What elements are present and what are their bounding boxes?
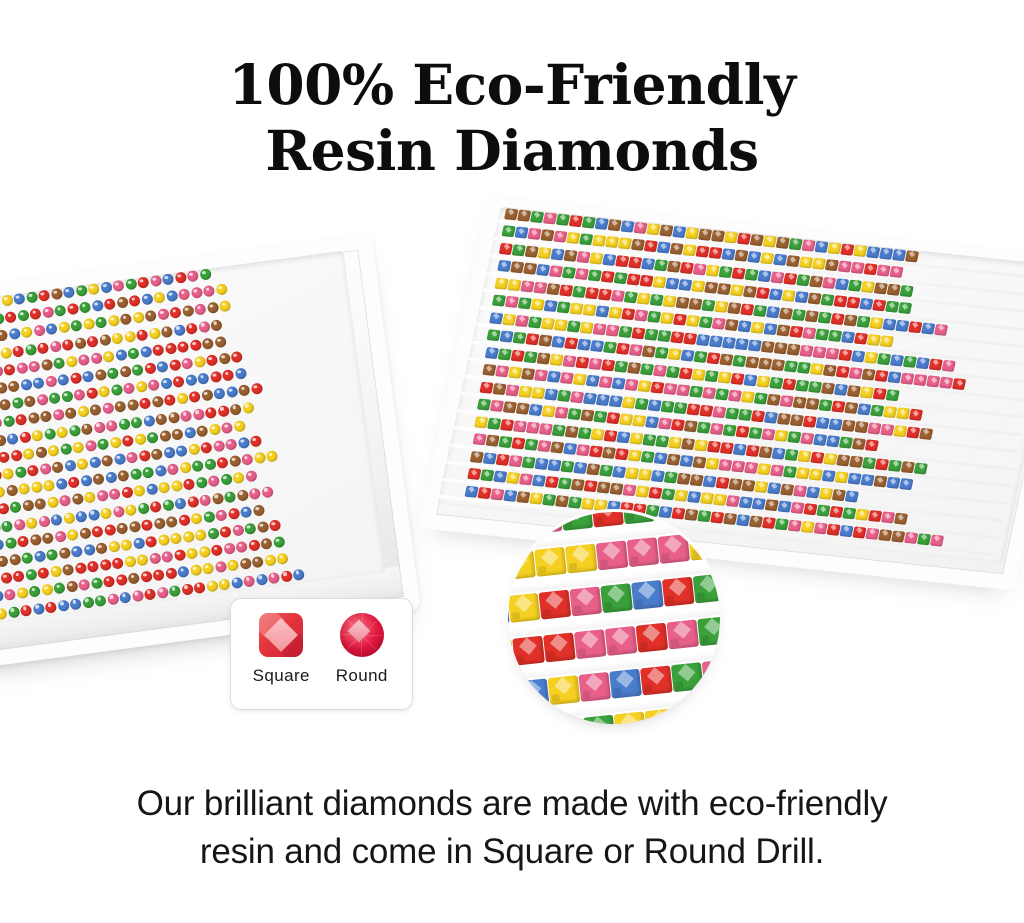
- resin-bead: [762, 516, 776, 528]
- resin-bead: [734, 250, 748, 262]
- resin-bead: [1, 294, 13, 306]
- resin-bead: [722, 336, 736, 348]
- resin-bead: [46, 323, 58, 335]
- magnified-gem: [539, 589, 572, 619]
- resin-bead: [206, 580, 218, 592]
- resin-bead: [799, 256, 813, 268]
- resin-bead: [528, 316, 542, 328]
- resin-bead: [586, 463, 600, 475]
- magnified-gem: [508, 512, 531, 537]
- resin-bead: [709, 335, 723, 347]
- resin-bead: [523, 351, 537, 363]
- resin-bead: [593, 323, 607, 335]
- resin-bead: [211, 319, 223, 331]
- resin-bead: [242, 401, 254, 413]
- resin-bead: [500, 331, 514, 343]
- resin-bead: [117, 470, 129, 482]
- resin-bead: [103, 576, 115, 588]
- resin-bead: [67, 303, 79, 315]
- resin-bead: [0, 365, 4, 377]
- resin-bead: [0, 330, 8, 342]
- resin-bead: [777, 500, 791, 512]
- resin-bead: [868, 510, 882, 522]
- resin-bead: [766, 394, 780, 406]
- resin-bead: [173, 324, 185, 336]
- resin-bead: [64, 460, 76, 472]
- resin-bead: [207, 302, 219, 314]
- resin-bead: [213, 440, 225, 452]
- resin-bead: [96, 490, 108, 502]
- resin-bead: [755, 287, 769, 299]
- resin-bead: [91, 577, 103, 589]
- resin-bead: [721, 248, 735, 260]
- resin-bead: [873, 475, 887, 487]
- resin-bead: [29, 308, 41, 320]
- resin-bead: [14, 466, 26, 478]
- resin-bead: [40, 411, 52, 423]
- resin-bead: [134, 433, 146, 445]
- resin-bead: [647, 311, 661, 323]
- resin-bead: [174, 549, 186, 561]
- resin-bead: [50, 288, 62, 300]
- resin-bead: [782, 378, 796, 390]
- resin-bead: [516, 403, 530, 415]
- resin-bead: [842, 419, 856, 431]
- resin-bead: [124, 556, 136, 568]
- resin-bead: [222, 369, 234, 381]
- resin-bead: [892, 249, 906, 261]
- magnified-gem: [508, 592, 540, 622]
- resin-bead: [521, 456, 535, 468]
- resin-bead: [635, 398, 649, 410]
- resin-bead: [533, 281, 547, 293]
- resin-bead: [891, 530, 905, 542]
- resin-bead: [829, 506, 843, 518]
- resin-bead: [47, 497, 59, 509]
- resin-bead: [50, 566, 62, 578]
- resin-bead: [930, 534, 944, 546]
- resin-bead: [888, 459, 902, 471]
- resin-bead: [883, 406, 897, 418]
- resin-bead: [869, 317, 883, 329]
- resin-bead: [226, 386, 238, 398]
- resin-bead: [952, 378, 966, 390]
- resin-bead: [696, 246, 710, 258]
- resin-bead: [485, 435, 499, 447]
- resin-bead: [20, 604, 32, 616]
- resin-bead: [634, 309, 648, 321]
- resin-bead: [219, 300, 231, 312]
- resin-bead: [159, 430, 171, 442]
- resin-bead: [149, 327, 161, 339]
- resin-bead: [732, 267, 746, 279]
- resin-bead: [704, 282, 718, 294]
- resin-bead: [743, 374, 757, 386]
- magnified-gem: [640, 665, 673, 695]
- resin-bead: [52, 409, 64, 421]
- resin-bead: [741, 479, 755, 491]
- resin-bead: [72, 441, 84, 453]
- resin-bead: [190, 287, 202, 299]
- resin-bead: [33, 325, 45, 337]
- magnified-gem: [653, 512, 686, 521]
- drill-type-legend: Square Round: [230, 598, 413, 710]
- square-bead-grid: [437, 207, 1024, 563]
- resin-bead: [670, 243, 684, 255]
- resin-bead: [847, 473, 861, 485]
- resin-bead: [741, 391, 755, 403]
- resin-bead: [82, 370, 94, 382]
- resin-bead: [9, 554, 21, 566]
- resin-bead: [916, 357, 930, 369]
- resin-bead: [608, 307, 622, 319]
- resin-bead: [797, 362, 811, 374]
- resin-bead: [849, 367, 863, 379]
- resin-bead: [152, 344, 164, 356]
- resin-bead: [603, 253, 617, 265]
- resin-bead: [664, 471, 678, 483]
- resin-bead: [88, 508, 100, 520]
- resin-bead: [756, 375, 770, 387]
- resin-bead: [856, 315, 870, 327]
- resin-bead: [538, 247, 552, 259]
- resin-bead: [250, 435, 262, 447]
- resin-bead: [544, 388, 558, 400]
- resin-bead: [752, 498, 766, 510]
- resin-bead: [119, 591, 131, 603]
- resin-bead: [93, 421, 105, 433]
- resin-bead: [28, 412, 40, 424]
- resin-bead: [619, 325, 633, 337]
- resin-bead: [505, 384, 519, 396]
- resin-bead: [22, 500, 34, 512]
- resin-bead: [236, 541, 248, 553]
- resin-bead: [761, 340, 775, 352]
- resin-bead: [526, 333, 540, 345]
- resin-bead: [645, 328, 659, 340]
- resin-bead: [828, 330, 842, 342]
- resin-bead: [552, 424, 566, 436]
- resin-bead: [189, 391, 201, 403]
- resin-bead: [161, 325, 173, 337]
- resin-bead: [4, 589, 16, 601]
- resin-bead: [179, 462, 191, 474]
- resin-bead: [0, 607, 8, 619]
- resin-bead: [216, 457, 228, 469]
- resin-bead: [169, 585, 181, 597]
- resin-bead: [153, 292, 165, 304]
- resin-bead: [650, 382, 664, 394]
- resin-bead: [73, 389, 85, 401]
- resin-bead: [54, 305, 66, 317]
- resin-bead: [149, 552, 161, 564]
- resin-bead: [172, 376, 184, 388]
- resin-bead: [635, 486, 649, 498]
- resin-bead: [710, 423, 724, 435]
- resin-bead: [617, 431, 631, 443]
- resin-bead: [45, 375, 57, 387]
- resin-bead: [63, 512, 75, 524]
- resin-bead: [810, 275, 824, 287]
- resin-bead: [850, 455, 864, 467]
- resin-bead: [99, 334, 111, 346]
- resin-bead: [603, 341, 617, 353]
- resin-bead: [759, 446, 773, 458]
- resin-bead: [97, 438, 109, 450]
- resin-bead: [160, 378, 172, 390]
- resin-bead: [103, 350, 115, 362]
- resin-bead: [55, 478, 67, 490]
- resin-bead: [765, 499, 779, 511]
- resin-bead: [885, 389, 899, 401]
- legend-item-round[interactable]: Round: [322, 613, 402, 686]
- resin-bead: [639, 275, 653, 287]
- resin-bead: [127, 399, 139, 411]
- resin-bead: [231, 576, 243, 588]
- resin-bead: [531, 299, 545, 311]
- resin-bead: [786, 255, 800, 267]
- resin-bead: [60, 443, 72, 455]
- resin-bead: [694, 351, 708, 363]
- resin-bead: [853, 526, 867, 538]
- resin-bead: [917, 533, 931, 545]
- resin-bead: [0, 591, 4, 603]
- resin-bead: [651, 470, 665, 482]
- resin-bead: [45, 601, 57, 613]
- resin-bead: [141, 293, 153, 305]
- resin-bead: [702, 475, 716, 487]
- resin-bead: [698, 228, 712, 240]
- resin-bead: [888, 371, 902, 383]
- resin-bead: [903, 355, 917, 367]
- resin-bead: [655, 347, 669, 359]
- resin-bead: [622, 484, 636, 496]
- magnified-gem: [706, 701, 720, 724]
- resin-bead: [498, 436, 512, 448]
- resin-bead: [826, 347, 840, 359]
- resin-bead: [590, 340, 604, 352]
- resin-bead: [744, 462, 758, 474]
- magnified-gem: [583, 714, 616, 724]
- resin-bead: [604, 429, 618, 441]
- resin-bead: [7, 380, 19, 392]
- resin-bead: [800, 344, 814, 356]
- resin-bead: [0, 572, 12, 584]
- resin-bead: [686, 315, 700, 327]
- resin-bead: [790, 502, 804, 514]
- resin-bead: [545, 476, 559, 488]
- legend-item-square[interactable]: Square: [241, 613, 321, 686]
- resin-bead: [12, 570, 24, 582]
- resin-bead: [5, 311, 17, 323]
- resin-bead: [169, 359, 181, 371]
- resin-bead: [800, 433, 814, 445]
- resin-bead: [857, 403, 871, 415]
- resin-bead: [711, 230, 725, 242]
- resin-bead: [232, 524, 244, 536]
- resin-bead: [208, 475, 220, 487]
- resin-bead: [210, 371, 222, 383]
- resin-bead: [83, 318, 95, 330]
- resin-bead: [76, 458, 88, 470]
- resin-bead: [818, 399, 832, 411]
- resin-bead: [534, 369, 548, 381]
- resin-bead: [492, 383, 506, 395]
- resin-bead: [658, 418, 672, 430]
- resin-bead: [717, 371, 731, 383]
- resin-bead: [848, 279, 862, 291]
- resin-bead: [580, 409, 594, 421]
- resin-bead: [683, 244, 697, 256]
- resin-bead: [145, 310, 157, 322]
- resin-bead: [478, 487, 492, 499]
- resin-bead: [773, 254, 787, 266]
- resin-bead: [524, 439, 538, 451]
- resin-bead: [30, 533, 42, 545]
- resin-bead: [641, 257, 655, 269]
- resin-bead: [875, 458, 889, 470]
- resin-bead: [816, 505, 830, 517]
- resin-bead: [197, 373, 209, 385]
- resin-bead: [829, 418, 843, 430]
- resin-bead: [494, 277, 508, 289]
- resin-bead: [582, 216, 596, 228]
- resin-bead: [805, 398, 819, 410]
- resin-bead: [0, 399, 11, 411]
- resin-bead: [49, 392, 61, 404]
- resin-bead: [78, 354, 90, 366]
- product-banner: 100% Eco-Friendly Resin Diamonds: [0, 0, 1024, 923]
- resin-bead: [191, 512, 203, 524]
- legend-label-square: Square: [253, 666, 310, 686]
- resin-bead: [832, 489, 846, 501]
- resin-bead: [521, 368, 535, 380]
- resin-bead: [104, 524, 116, 536]
- resin-bead: [113, 505, 125, 517]
- resin-bead: [234, 368, 246, 380]
- resin-bead: [665, 278, 679, 290]
- resin-bead: [675, 296, 689, 308]
- resin-bead: [942, 359, 956, 371]
- resin-bead: [877, 353, 891, 365]
- resin-bead: [82, 596, 94, 608]
- resin-bead: [116, 297, 128, 309]
- resin-bead: [49, 340, 61, 352]
- resin-bead: [709, 247, 723, 259]
- resin-bead: [256, 573, 268, 585]
- resin-bead: [570, 391, 584, 403]
- resin-bead: [905, 250, 919, 262]
- resin-bead: [536, 264, 550, 276]
- resin-bead: [489, 312, 503, 324]
- resin-bead: [8, 328, 20, 340]
- resin-bead: [806, 486, 820, 498]
- resin-bead: [838, 349, 852, 361]
- resin-bead: [91, 300, 103, 312]
- resin-bead: [541, 317, 555, 329]
- resin-bead: [539, 423, 553, 435]
- resin-bead: [497, 260, 511, 272]
- resin-bead: [851, 350, 865, 362]
- resin-bead: [801, 521, 815, 533]
- resin-bead: [17, 310, 29, 322]
- magnified-gem: [627, 537, 660, 567]
- resin-bead: [492, 295, 506, 307]
- resin-bead: [233, 472, 245, 484]
- resin-bead: [662, 295, 676, 307]
- resin-bead: [209, 423, 221, 435]
- resin-bead: [836, 366, 850, 378]
- resin-bead: [680, 262, 694, 274]
- resin-bead: [261, 486, 273, 498]
- magnified-gem: [508, 550, 536, 580]
- resin-bead: [934, 323, 948, 335]
- resin-bead: [840, 243, 854, 255]
- magnified-gem: [512, 635, 545, 665]
- resin-bead: [77, 406, 89, 418]
- resin-bead: [814, 522, 828, 534]
- resin-bead: [74, 562, 86, 574]
- resin-bead: [113, 453, 125, 465]
- resin-bead: [112, 557, 124, 569]
- resin-bead: [753, 392, 767, 404]
- resin-bead: [63, 286, 75, 298]
- resin-bead: [151, 396, 163, 408]
- resin-bead: [750, 234, 764, 246]
- resin-bead: [895, 319, 909, 331]
- resin-bead: [810, 363, 824, 375]
- legend-label-round: Round: [336, 666, 388, 686]
- resin-bead: [51, 513, 63, 525]
- resin-bead: [188, 443, 200, 455]
- resin-bead: [557, 389, 571, 401]
- resin-bead: [784, 360, 798, 372]
- resin-bead: [58, 322, 70, 334]
- resin-bead: [71, 493, 83, 505]
- resin-bead: [44, 428, 56, 440]
- resin-bead: [859, 386, 873, 398]
- resin-bead: [129, 520, 141, 532]
- resin-bead: [803, 415, 817, 427]
- resin-bead: [534, 457, 548, 469]
- resin-bead: [649, 293, 663, 305]
- magnified-gem: [645, 708, 678, 724]
- resin-bead: [166, 516, 178, 528]
- resin-bead: [733, 443, 747, 455]
- resin-bead: [877, 265, 891, 277]
- resin-bead: [116, 522, 128, 534]
- resin-bead: [852, 438, 866, 450]
- magnified-gem: [591, 512, 624, 527]
- resin-bead: [758, 358, 772, 370]
- resin-bead: [28, 360, 40, 372]
- resin-bead: [547, 371, 561, 383]
- resin-bead: [194, 581, 206, 593]
- resin-bead: [719, 266, 733, 278]
- resin-bead: [766, 306, 780, 318]
- resin-bead: [238, 385, 250, 397]
- resin-bead: [787, 343, 801, 355]
- resin-bead: [236, 489, 248, 501]
- resin-bead: [69, 372, 81, 384]
- resin-bead: [43, 480, 55, 492]
- resin-bead: [79, 527, 91, 539]
- resin-bead: [763, 235, 777, 247]
- resin-bead: [550, 441, 564, 453]
- resin-bead: [41, 584, 53, 596]
- resin-bead: [128, 347, 140, 359]
- resin-bead: [542, 405, 556, 417]
